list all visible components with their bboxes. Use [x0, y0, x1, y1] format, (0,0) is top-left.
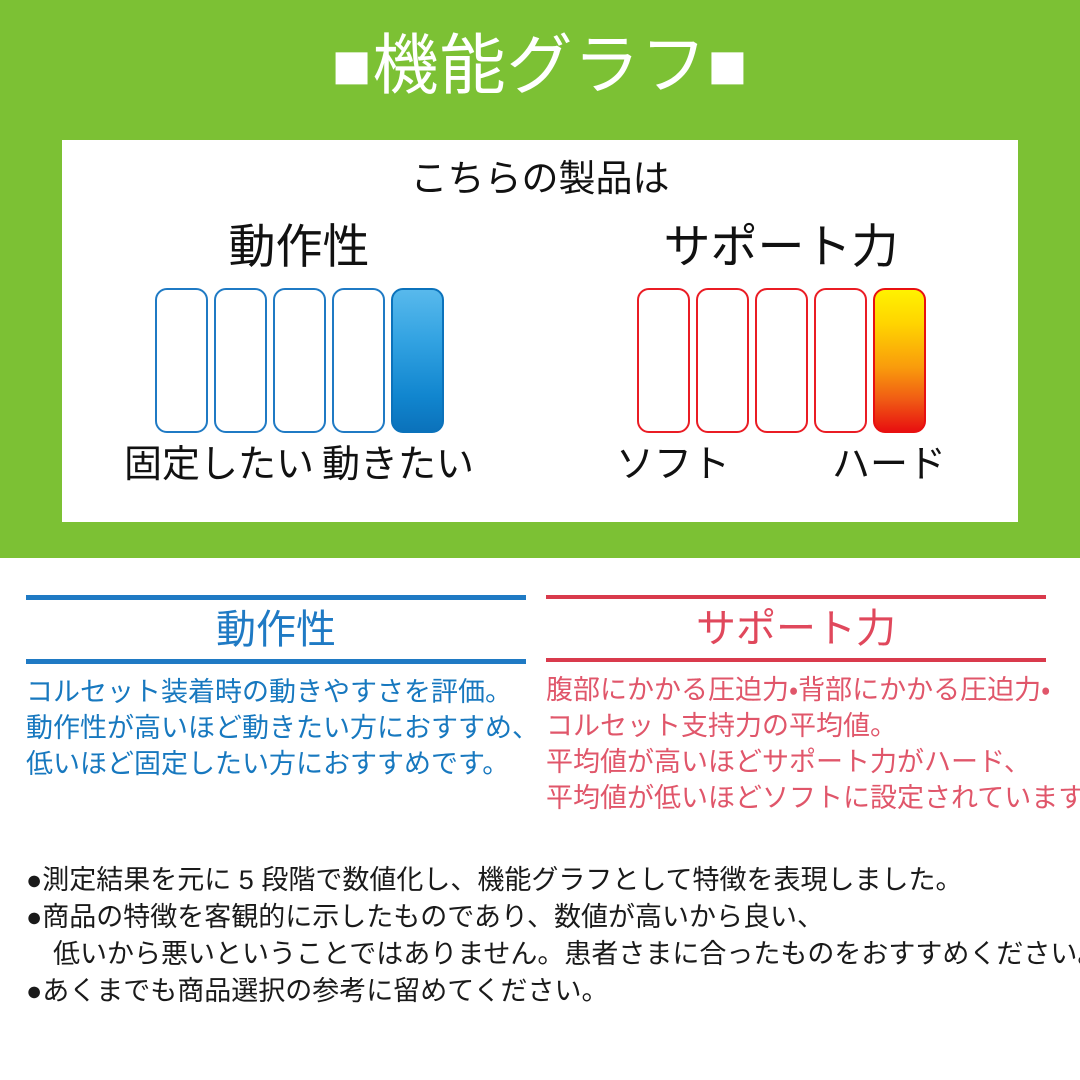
- gauge-mobility-high-label: 動きたい: [322, 441, 474, 489]
- card-lead-text: こちらの製品は: [62, 154, 1018, 204]
- gauge-support-segment-3: [755, 288, 808, 433]
- gauge-mobility-segment-4: [332, 288, 385, 433]
- gauge-support-labels: ソフト ハード: [616, 441, 946, 489]
- gauge-support-title: サポート力: [664, 218, 899, 276]
- gauge-mobility: 動作性 固定したい 動きたい: [84, 218, 514, 489]
- legend-mobility-body: コルセット装着時の動きやすさを評価。 動作性が高いほど動きたい方におすすめ、 低…: [26, 674, 526, 782]
- gauge-mobility-segment-2: [214, 288, 267, 433]
- footer-note-2: ●商品の特徴を客観的に示したものであり、数値が高いから良い、: [26, 899, 1056, 936]
- gauge-card: こちらの製品は 動作性 固定したい 動きたい サポート力: [62, 140, 1018, 522]
- legend-support-heading: サポート力: [546, 595, 1046, 662]
- legend-mobility-heading: 動作性: [26, 595, 526, 664]
- legend-mobility-line-1: コルセット装着時の動きやすさを評価。: [26, 674, 526, 710]
- legend-support-line-4: 平均値が低いほどソフトに設定されています。: [546, 780, 1046, 816]
- footer-note-3: ●あくまでも商品選択の参考に留めてください。: [26, 973, 1056, 1010]
- gauge-mobility-segment-3: [273, 288, 326, 433]
- gauge-mobility-segment-1: [155, 288, 208, 433]
- gauge-mobility-segment-5: [391, 288, 444, 433]
- gauge-support-high-label: ハード: [832, 441, 946, 489]
- legend-support: サポート力 腹部にかかる圧迫力・背部にかかる圧迫力・ コルセット支持力の平均値。…: [546, 595, 1046, 816]
- legend-support-body: 腹部にかかる圧迫力・背部にかかる圧迫力・ コルセット支持力の平均値。 平均値が高…: [546, 672, 1046, 816]
- legend-mobility-line-3: 低いほど固定したい方におすすめです。: [26, 746, 526, 782]
- gauge-support-bars: [637, 288, 926, 433]
- legend-row: 動作性 コルセット装着時の動きやすさを評価。 動作性が高いほど動きたい方におすす…: [0, 595, 1080, 816]
- gauge-support-segment-5: [873, 288, 926, 433]
- gauge-support-segment-1: [637, 288, 690, 433]
- legend-mobility-line-2: 動作性が高いほど動きたい方におすすめ、: [26, 710, 526, 746]
- green-banner: ■機能グラフ■ こちらの製品は 動作性 固定したい 動きたい: [0, 0, 1080, 558]
- gauge-row: 動作性 固定したい 動きたい サポート力: [62, 218, 1018, 489]
- gauge-support-segment-4: [814, 288, 867, 433]
- gauge-support-low-label: ソフト: [616, 441, 730, 489]
- legend-support-line-1: 腹部にかかる圧迫力・背部にかかる圧迫力・: [546, 672, 1046, 708]
- page-title: ■機能グラフ■: [0, 22, 1080, 108]
- legend-support-line-3: 平均値が高いほどサポート力がハード、: [546, 744, 1046, 780]
- gauge-support: サポート力 ソフト ハード: [566, 218, 996, 489]
- legend-support-line-2: コルセット支持力の平均値。: [546, 708, 1046, 744]
- gauge-mobility-title: 動作性: [229, 218, 370, 276]
- footer-notes: ●測定結果を元に 5 段階で数値化し、機能グラフとして特徴を表現しました。 ●商…: [26, 862, 1056, 1010]
- gauge-support-segment-2: [696, 288, 749, 433]
- footer-note-2-cont: 低いから悪いということではありません。患者さまに合ったものをおすすめください。: [26, 936, 1056, 973]
- legend-mobility: 動作性 コルセット装着時の動きやすさを評価。 動作性が高いほど動きたい方におすす…: [26, 595, 526, 816]
- footer-note-1: ●測定結果を元に 5 段階で数値化し、機能グラフとして特徴を表現しました。: [26, 862, 1056, 899]
- gauge-mobility-bars: [155, 288, 444, 433]
- gauge-mobility-labels: 固定したい 動きたい: [124, 441, 474, 489]
- gauge-mobility-low-label: 固定したい: [124, 441, 314, 489]
